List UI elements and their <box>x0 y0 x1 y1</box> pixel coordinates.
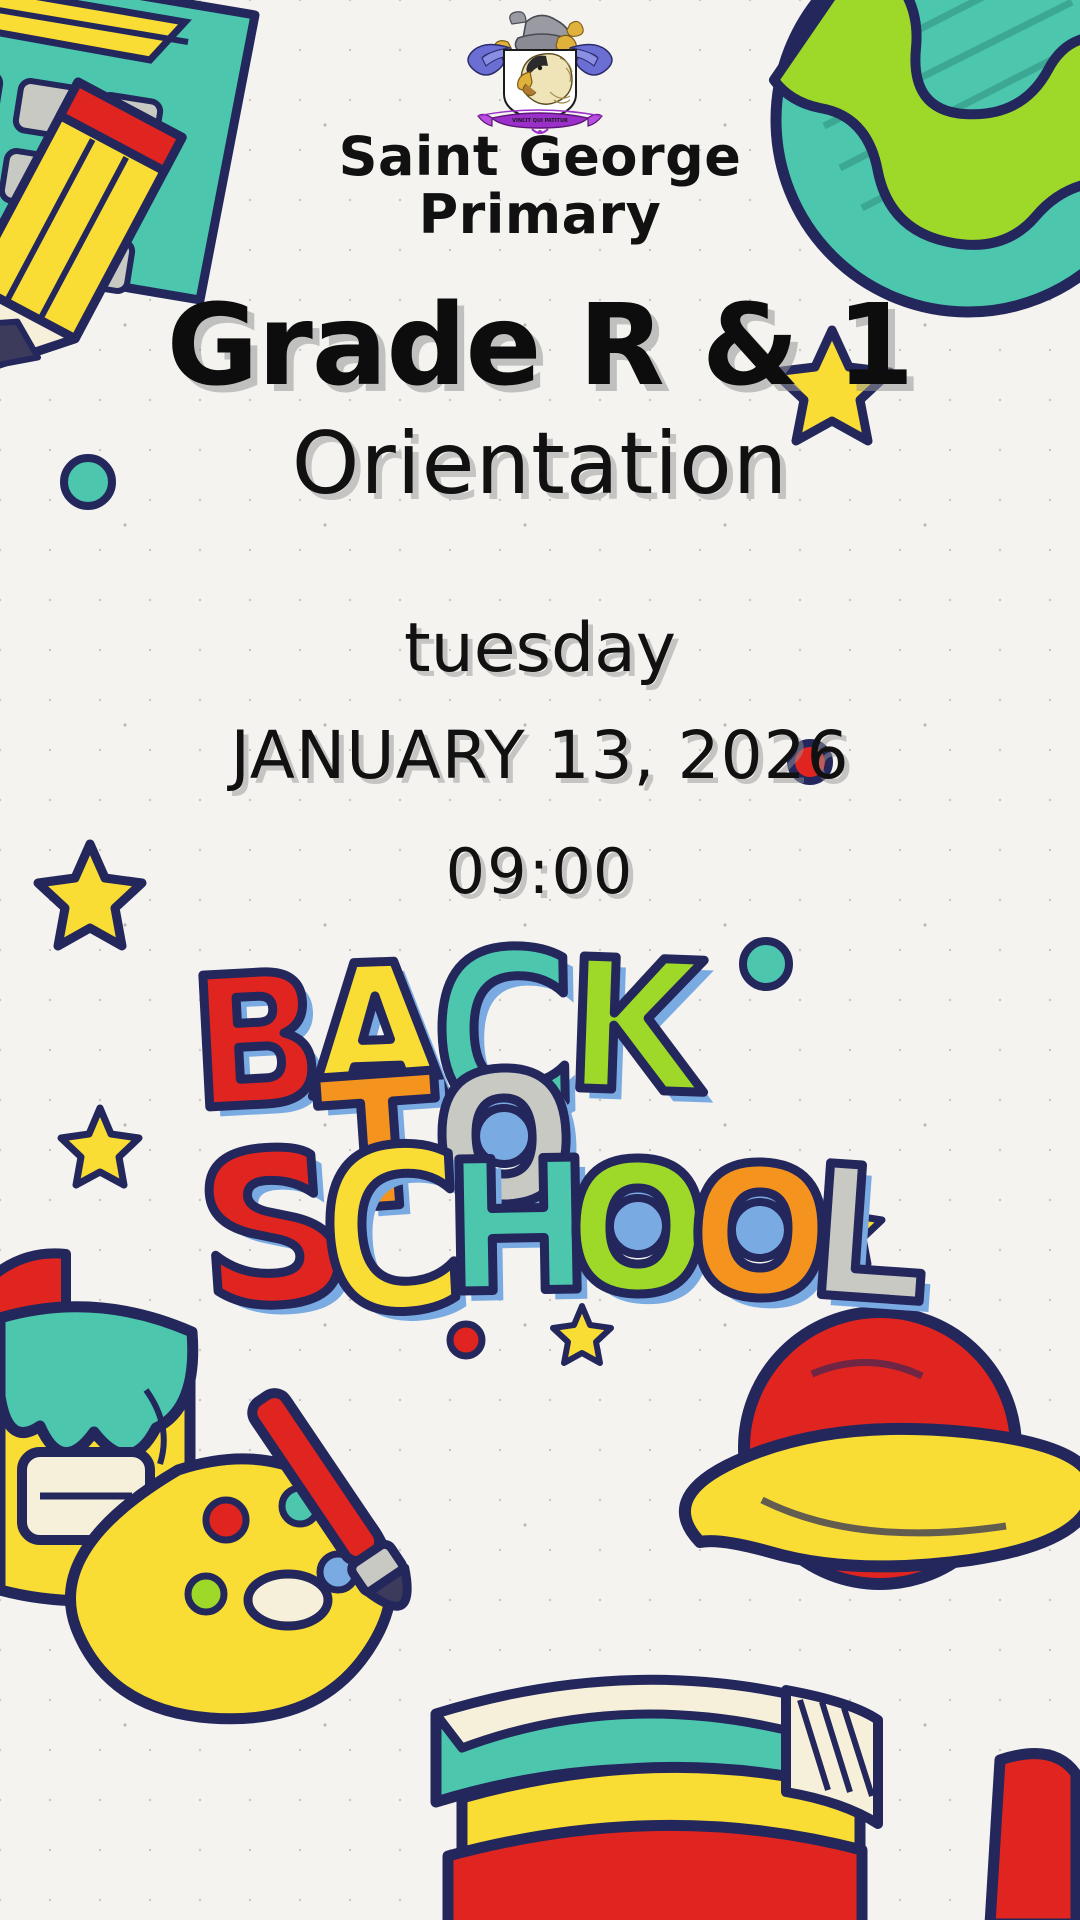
backpack-icon <box>0 1253 193 1600</box>
page-title: Grade R & 1 <box>0 290 1080 402</box>
school-name: Saint George Primary <box>0 128 1080 244</box>
wordart-letter-L <box>821 1163 928 1302</box>
wordart-letter-K <box>580 956 709 1092</box>
paint-palette-icon <box>70 1459 391 1719</box>
school-crest: VINCIT QUI PATITUR <box>400 8 680 138</box>
back-to-school-wordart <box>180 960 920 1300</box>
poster-canvas: VINCIT QUI PATITUR Saint George Primary … <box>0 0 1080 1920</box>
saturn-planet-icon <box>685 1312 1080 1584</box>
school-name-line2: Primary <box>0 186 1080 244</box>
page-subtitle: Orientation <box>0 418 1080 510</box>
back-to-school-svg <box>180 960 920 1300</box>
crest-motto-text: VINCIT QUI PATITUR <box>512 118 568 124</box>
school-name-line1: Saint George <box>0 128 1080 186</box>
event-time: 09:00 <box>0 838 1080 906</box>
wordart-letter-B <box>203 970 314 1107</box>
paint-brush-icon <box>244 1385 421 1617</box>
wordart-letter-C2 <box>326 1141 457 1315</box>
event-date: JANUARY 13, 2026 <box>0 720 1080 792</box>
event-day: tuesday <box>0 612 1080 686</box>
books-icon <box>436 1680 1076 1920</box>
